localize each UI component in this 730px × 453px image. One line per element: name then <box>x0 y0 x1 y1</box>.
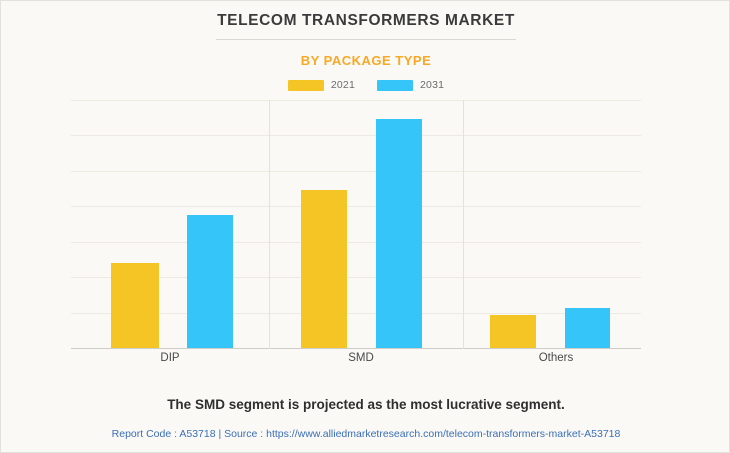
x-axis-labels: DIPSMDOthers <box>71 352 641 372</box>
bar-dip-2031[interactable] <box>187 215 233 348</box>
plot-area <box>71 100 641 349</box>
page-title: TELECOM TRANSFORMERS MARKET <box>1 12 730 30</box>
chart-card: TELECOM TRANSFORMERS MARKET BY PACKAGE T… <box>0 0 730 453</box>
bar-smd-2031[interactable] <box>376 119 422 348</box>
x-axis-label-others: Others <box>516 352 596 364</box>
legend-label-2031: 2031 <box>420 79 444 91</box>
chart-insight-text: The SMD segment is projected as the most… <box>1 397 730 412</box>
x-axis-label-dip: DIP <box>130 352 210 364</box>
legend-item-2021[interactable]: 2021 <box>288 79 355 91</box>
chart-subtitle: BY PACKAGE TYPE <box>1 53 730 68</box>
legend-label-2021: 2021 <box>331 79 355 91</box>
x-axis-label-smd: SMD <box>321 352 401 364</box>
bar-others-2021[interactable] <box>490 315 536 348</box>
bar-smd-2021[interactable] <box>301 190 347 348</box>
chart-legend: 2021 2031 <box>1 79 730 91</box>
bars-layer <box>71 100 641 349</box>
bar-others-2031[interactable] <box>565 308 610 348</box>
legend-swatch-2021 <box>288 80 324 91</box>
title-divider <box>216 39 516 40</box>
legend-item-2031[interactable]: 2031 <box>377 79 444 91</box>
report-source-text: Report Code : A53718 | Source : https://… <box>1 428 730 440</box>
bar-dip-2021[interactable] <box>111 263 159 348</box>
legend-swatch-2031 <box>377 80 413 91</box>
